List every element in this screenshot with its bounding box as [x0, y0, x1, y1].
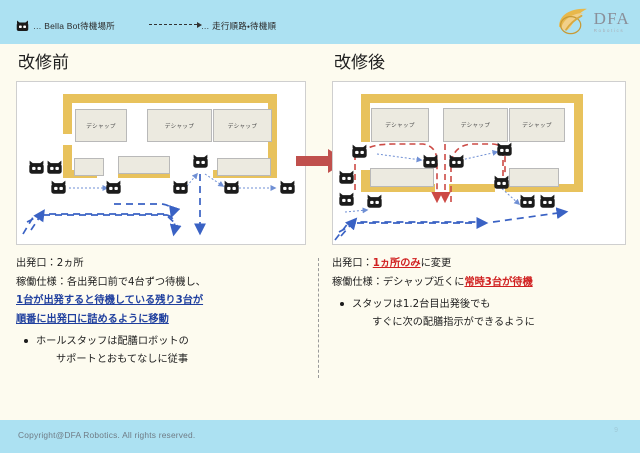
column-after: 改修後 デシャップ デシャップ デシャップ [332, 48, 632, 331]
legend-label-route: … 走行順路・待機順 [201, 20, 276, 32]
after-line-2-prefix: 稼働仕様：デシャップ近くに [332, 277, 464, 288]
before-bullet-1-line-2: サポートとおもてなしに従事 [36, 351, 312, 369]
slide: … Bella Bot待機場所 … 走行順路・待機順 DFA Robotics … [0, 0, 640, 453]
after-bullet-list: スタッフは1.2台目出発後でも すぐに次の配膳指示ができるように [332, 296, 632, 331]
robot-cat [493, 175, 510, 190]
robot-cat [279, 180, 296, 195]
before-bullet-list: ホールスタッフは配膳ロボットの サポートとおもてなしに従事 [16, 333, 312, 368]
desk-1-label: デシャップ [86, 122, 115, 130]
robot-cat [366, 194, 383, 209]
desk-1-label: デシャップ [385, 121, 414, 129]
after-line-1-prefix: 出発口： [332, 258, 373, 269]
desk-1: デシャップ [371, 108, 429, 142]
cat-robot-icon [16, 20, 29, 32]
diagram-before: デシャップ デシャップ デシャップ [16, 81, 306, 245]
desk-2-label: デシャップ [165, 122, 194, 130]
after-line-1: 出発口：1ヵ所のみに変更 [332, 255, 632, 273]
after-line-2-emphasis: 常時3台が待機 [464, 277, 532, 288]
counter-left-leg [361, 94, 370, 142]
counter-top [361, 94, 583, 103]
dashed-arrow-icon [149, 24, 197, 26]
after-line-1-emphasis: 1ヵ所のみ [373, 258, 421, 269]
counter-mid-bar [449, 184, 495, 192]
robot-cat [539, 194, 556, 209]
before-emphasis-2: 順番に出発口に詰めるように移動 [16, 314, 169, 325]
legend-item-route: … 走行順路・待機順 [149, 20, 276, 32]
robot-cat [519, 194, 536, 209]
desk-3: デシャップ [509, 108, 565, 142]
desk-2-label: デシャップ [461, 121, 490, 129]
robot-cat [46, 160, 63, 175]
table-1 [74, 158, 104, 176]
robot-cat [50, 180, 67, 195]
text-after: 出発口：1ヵ所のみに変更 稼働仕様：デシャップ近くに常時3台が待機 スタッフは1… [332, 255, 632, 331]
desk-2: デシャップ [147, 109, 212, 142]
counter-right-leg [574, 94, 583, 192]
after-bullet-1-line-1: スタッフは1.2台目出発後でも [352, 299, 490, 310]
dfa-logo-subtitle: Robotics [594, 29, 630, 34]
after-line-2: 稼働仕様：デシャップ近くに常時3台が待機 [332, 274, 632, 292]
column-after-title: 改修後 [334, 48, 632, 73]
slide-footer: Copyright@DFA Robotics. All rights reser… [0, 420, 640, 453]
robot-cat [448, 154, 465, 169]
robot-cat [422, 154, 439, 169]
before-bullet-1-line-1: ホールスタッフは配膳ロボットの [36, 336, 189, 347]
text-before: 出発口：2ヵ所 稼働仕様：各出発口前で4台ずつ待機し、 1台が出発すると待機して… [16, 255, 312, 368]
legend-label-bella-bot: … Bella Bot待機場所 [33, 20, 115, 32]
dfa-logo-text: DFA Robotics [594, 10, 630, 34]
robot-cat [28, 160, 45, 175]
counter-left-upper [63, 94, 72, 134]
after-line-1-suffix: に変更 [421, 258, 452, 269]
list-item: スタッフは1.2台目出発後でも すぐに次の配膳指示ができるように [332, 296, 632, 331]
robot-cat [338, 192, 355, 207]
slide-header: … Bella Bot待機場所 … 走行順路・待機順 DFA Robotics [0, 0, 640, 44]
robot-cat [351, 144, 368, 159]
desk-3: デシャップ [213, 109, 272, 142]
table-2 [509, 168, 559, 187]
desk-3-label: デシャップ [228, 122, 257, 130]
column-divider [318, 258, 319, 378]
counter-top [63, 94, 277, 103]
desk-2: デシャップ [443, 108, 508, 142]
robot-cat [496, 142, 513, 157]
page-number: 9 [614, 427, 618, 434]
dfa-logo-name: DFA [594, 10, 630, 27]
list-item: ホールスタッフは配膳ロボットの サポートとおもてなしに従事 [16, 333, 312, 368]
legend-item-bella-bot: … Bella Bot待機場所 [16, 20, 115, 32]
robot-cat [172, 180, 189, 195]
dfa-logo: DFA Robotics [556, 6, 630, 38]
dfa-logo-mark [556, 6, 590, 38]
desk-1: デシャップ [75, 109, 127, 142]
robot-cat [192, 154, 209, 169]
table-3 [217, 158, 271, 176]
robot-cat [223, 180, 240, 195]
robot-cat [105, 180, 122, 195]
desk-3-label: デシャップ [522, 121, 551, 129]
robot-cat [338, 170, 355, 185]
column-before: 改修前 デシャップ デシャップ デシャップ [16, 48, 312, 368]
before-emphasis-1: 1台が出発すると待機している残り3台が [16, 295, 203, 306]
before-line-1: 出発口：2ヵ所 [16, 255, 312, 273]
diagram-after: デシャップ デシャップ デシャップ [332, 81, 626, 245]
column-before-title: 改修前 [18, 48, 312, 73]
table-2 [118, 156, 170, 174]
before-line-2: 稼働仕様：各出発口前で4台ずつ待機し、 [16, 274, 312, 292]
legend: … Bella Bot待機場所 … 走行順路・待機順 [16, 20, 276, 32]
table-1 [370, 168, 434, 187]
copyright-text: Copyright@DFA Robotics. All rights reser… [18, 430, 195, 440]
after-bullet-1-line-2: すぐに次の配膳指示ができるように [352, 314, 632, 332]
